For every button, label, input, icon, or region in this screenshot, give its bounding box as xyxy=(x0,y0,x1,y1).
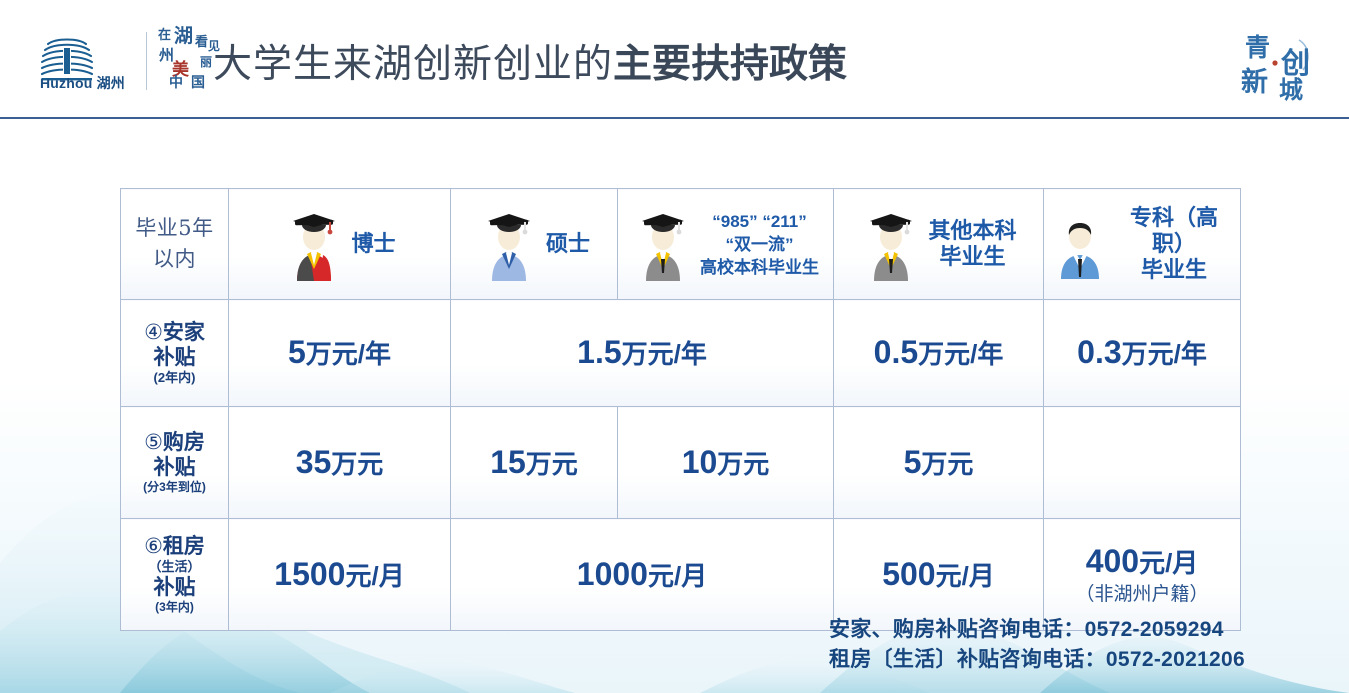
period-line2: 以内 xyxy=(122,244,227,275)
value-number: 1000 xyxy=(577,556,648,592)
college-line1: 专科（高职） xyxy=(1115,205,1233,257)
table-row-home-purchase-subsidy: ⑤购房 补贴 (分3年到位) 35万元 15万元 10万元 5万元 xyxy=(121,407,1241,519)
row-label-text-1: 安家 xyxy=(163,321,205,344)
huzhou-wordmark: Huzhou 湖州 xyxy=(40,73,125,93)
qingchuangxincheng-logo: 青 创 新 城 xyxy=(1239,26,1321,100)
logo-divider xyxy=(146,32,147,90)
contact-line-2: 租房〔生活〕补贴咨询电话：0572-2021206 xyxy=(829,645,1245,675)
huzhou-calligraphy-logo: 在 湖 看 见 州 丽 美 中 国 xyxy=(158,30,220,92)
cell-rental-master-top-bachelor: 1000元/月 xyxy=(451,519,834,631)
value-unit: 万元/年 xyxy=(306,339,391,369)
cell-settling-doctor: 5万元/年 xyxy=(229,300,451,407)
value-unit: 万元/年 xyxy=(1122,339,1207,369)
contact-line-1: 安家、购房补贴咨询电话：0572-2059294 xyxy=(829,615,1245,645)
page-title: 大学生来湖创新创业的主要扶持政策 xyxy=(213,40,847,90)
top-bachelor-line3: 高校本科毕业生 xyxy=(700,256,819,279)
cell-purchase-top-bachelor: 10万元 xyxy=(618,407,834,519)
row-sub-2: (分3年到位) xyxy=(123,480,226,495)
cell-purchase-other-bachelor: 5万元 xyxy=(834,407,1044,519)
value-number: 35 xyxy=(296,444,332,480)
table-header-row: 毕业5年 以内 xyxy=(121,189,1241,300)
college-graduate-icon xyxy=(1051,209,1109,279)
header-label-doctor: 博士 xyxy=(351,231,395,257)
cell-rental-doctor: 1500元/月 xyxy=(229,519,451,631)
value-number: 5 xyxy=(288,334,306,370)
page-header: Huzhou 湖州 在 湖 看 见 州 丽 美 中 国 大学生来湖创新创业的主要… xyxy=(0,0,1349,118)
page-title-normal: 大学生来湖创新创业的 xyxy=(213,42,613,87)
value-unit: 元/月 xyxy=(936,561,995,591)
graduate-bachelor-icon xyxy=(632,207,694,281)
row-label-text-2: 补贴 xyxy=(123,345,226,370)
header-label-top-bachelor: “985” “211” “双一流” 高校本科毕业生 xyxy=(700,210,819,279)
row-label-text-2: 补贴 xyxy=(123,455,226,480)
value-unit: 万元 xyxy=(526,449,578,479)
page-title-emphasis: 主要扶持政策 xyxy=(613,42,847,87)
cell-settling-college: 0.3万元/年 xyxy=(1044,300,1241,407)
value-unit: 万元/年 xyxy=(622,339,707,369)
value-number: 1.5 xyxy=(577,334,621,370)
value-unit: 元/月 xyxy=(1139,548,1198,578)
row-label-text-2: 补贴 xyxy=(123,575,226,600)
value-number: 0.3 xyxy=(1077,334,1121,370)
cell-rental-other-bachelor: 500元/月 xyxy=(834,519,1044,631)
header-cell-top-bachelor: “985” “211” “双一流” 高校本科毕业生 xyxy=(618,189,834,300)
value-number: 500 xyxy=(882,556,935,592)
value-number: 15 xyxy=(490,444,526,480)
row-label-settling-allowance: ④安家 补贴 (2年内) xyxy=(121,300,229,407)
policy-table: 毕业5年 以内 xyxy=(120,188,1241,631)
row-sub-1: (2年内) xyxy=(123,370,226,386)
other-bachelor-line2: 毕业生 xyxy=(928,244,1016,270)
row-number-5: ⑤ xyxy=(144,431,163,454)
row-label-paren: （生活） xyxy=(123,559,226,575)
cell-settling-master-top-bachelor: 1.5万元/年 xyxy=(451,300,834,407)
graduate-bachelor-icon xyxy=(860,207,922,281)
value-number: 5 xyxy=(904,444,922,480)
cell-purchase-college-empty xyxy=(1044,407,1241,519)
contact-info: 安家、购房补贴咨询电话：0572-2059294 租房〔生活〕补贴咨询电话：05… xyxy=(829,615,1245,675)
other-bachelor-line1: 其他本科 xyxy=(928,218,1016,244)
header-label-other-bachelor: 其他本科 毕业生 xyxy=(928,218,1016,270)
cell-purchase-doctor: 35万元 xyxy=(229,407,451,519)
row-label-text-1: 租房 xyxy=(163,535,205,558)
row-label-text-1: 购房 xyxy=(163,431,205,454)
value-note: （非湖州户籍） xyxy=(1045,583,1239,607)
header-divider xyxy=(0,117,1349,119)
row-number-4: ④ xyxy=(144,321,163,344)
cell-settling-other-bachelor: 0.5万元/年 xyxy=(834,300,1044,407)
huzhou-logo: Huzhou 湖州 在 湖 看 见 州 丽 美 中 国 xyxy=(36,30,236,92)
header-cell-doctor: 博士 xyxy=(229,189,451,300)
college-line2: 毕业生 xyxy=(1115,257,1233,283)
graduate-master-icon xyxy=(478,207,540,281)
period-line1: 毕业5年 xyxy=(122,213,227,244)
value-number: 10 xyxy=(682,444,718,480)
row-number-6: ⑥ xyxy=(144,535,163,558)
value-unit: 元/月 xyxy=(345,561,404,591)
row-label-rental-subsidy: ⑥租房 （生活） 补贴 (3年内) xyxy=(121,519,229,631)
top-bachelor-line1: “985” “211” xyxy=(700,210,819,233)
cell-purchase-master: 15万元 xyxy=(451,407,618,519)
table-row-settling-allowance: ④安家 补贴 (2年内) 5万元/年 1.5万元/年 0.5万元/年 0.3万元… xyxy=(121,300,1241,407)
top-bachelor-line2: “双一流” xyxy=(700,233,819,256)
row-sub-3: (3年内) xyxy=(123,600,226,615)
value-unit: 元/月 xyxy=(648,561,707,591)
value-unit: 万元 xyxy=(331,449,383,479)
header-cell-other-bachelor: 其他本科 毕业生 xyxy=(834,189,1044,300)
header-cell-college: 专科（高职） 毕业生 xyxy=(1044,189,1241,300)
value-number: 0.5 xyxy=(874,334,918,370)
header-label-college: 专科（高职） 毕业生 xyxy=(1115,205,1233,283)
row-label-home-purchase-subsidy: ⑤购房 补贴 (分3年到位) xyxy=(121,407,229,519)
value-number: 1500 xyxy=(274,556,345,592)
value-unit: 万元 xyxy=(717,449,769,479)
value-unit: 万元/年 xyxy=(918,339,1003,369)
cell-rental-college: 400元/月 （非湖州户籍） xyxy=(1044,519,1241,631)
value-number: 400 xyxy=(1086,543,1139,579)
header-cell-master: 硕士 xyxy=(451,189,618,300)
table-row-rental-subsidy: ⑥租房 （生活） 补贴 (3年内) 1500元/月 1000元/月 500元/月… xyxy=(121,519,1241,631)
header-label-master: 硕士 xyxy=(546,231,590,257)
graduate-doctor-icon xyxy=(283,207,345,281)
header-cell-period: 毕业5年 以内 xyxy=(121,189,229,300)
slide-root: Huzhou 湖州 在 湖 看 见 州 丽 美 中 国 大学生来湖创新创业的主要… xyxy=(0,0,1349,693)
value-unit: 万元 xyxy=(921,449,973,479)
